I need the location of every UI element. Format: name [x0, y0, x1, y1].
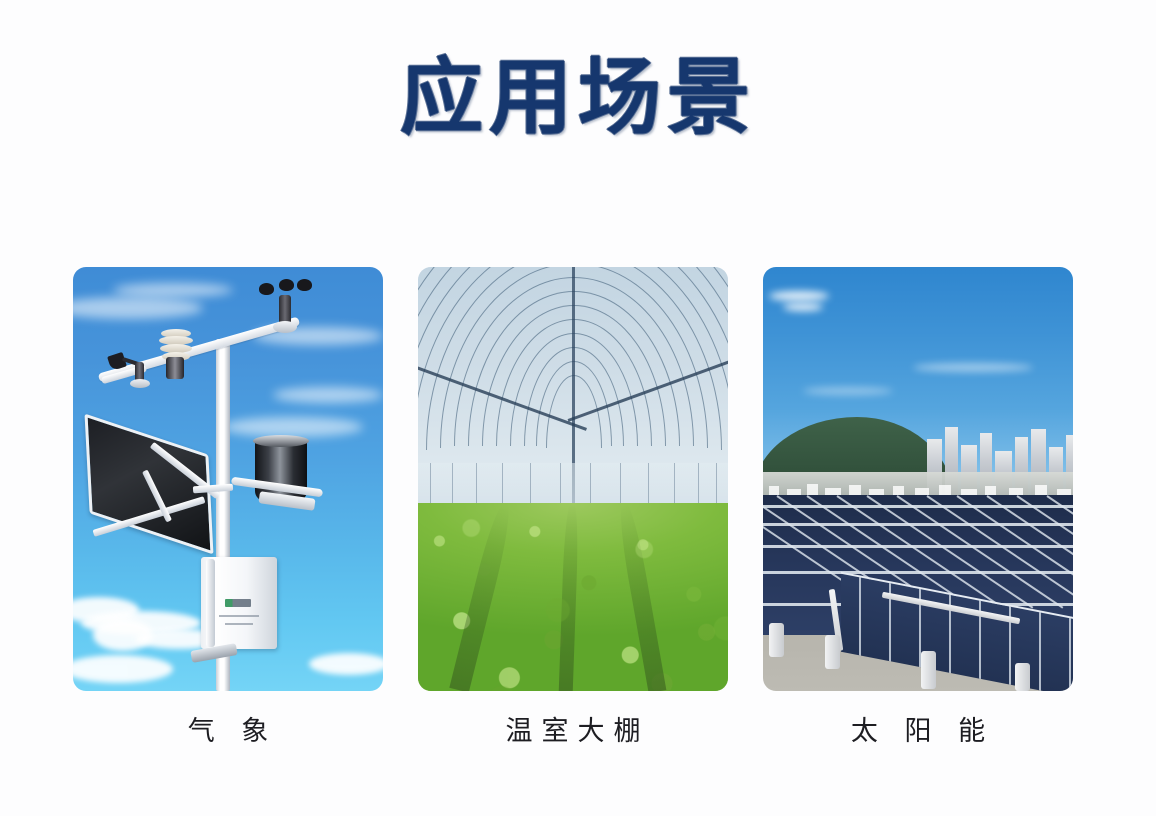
- cloud-wisp: [223, 417, 363, 437]
- cabinet-logo-icon: [225, 599, 251, 607]
- scenario-card-weather-station[interactable]: [73, 267, 383, 691]
- lettuce-crop-rows: [418, 503, 728, 691]
- cabinet-label-line: [225, 623, 253, 625]
- cloud-wisp: [273, 387, 383, 403]
- cloud: [769, 291, 829, 301]
- caption-row: 气 象 温室大棚 太 阳 能: [73, 716, 1073, 748]
- cloud: [783, 303, 823, 311]
- cabinet-hinge: [206, 559, 215, 647]
- mount-leg: [825, 635, 840, 669]
- mount-leg: [921, 651, 936, 689]
- scenario-card-list: [73, 267, 1073, 691]
- caption-greenhouse: 温室大棚: [418, 716, 728, 748]
- rain-gauge-rim: [253, 435, 309, 447]
- cabinet-label-line: [219, 615, 259, 617]
- scenario-card-greenhouse[interactable]: [418, 267, 728, 691]
- cloud: [309, 653, 383, 675]
- radiation-shield-icon: [159, 329, 193, 367]
- cloud-wisp: [113, 283, 233, 297]
- caption-solar: 太 阳 能: [763, 716, 1073, 748]
- mount-leg: [1015, 663, 1030, 691]
- mount-leg: [769, 623, 784, 657]
- anemometer-icon: [259, 279, 313, 319]
- cloud: [913, 363, 1033, 372]
- wind-vane-icon: [109, 352, 151, 386]
- caption-weather-station: 气 象: [73, 716, 383, 748]
- scenario-card-solar[interactable]: [763, 267, 1073, 691]
- cloud: [803, 387, 893, 395]
- page-title: 应用场景: [0, 52, 1156, 145]
